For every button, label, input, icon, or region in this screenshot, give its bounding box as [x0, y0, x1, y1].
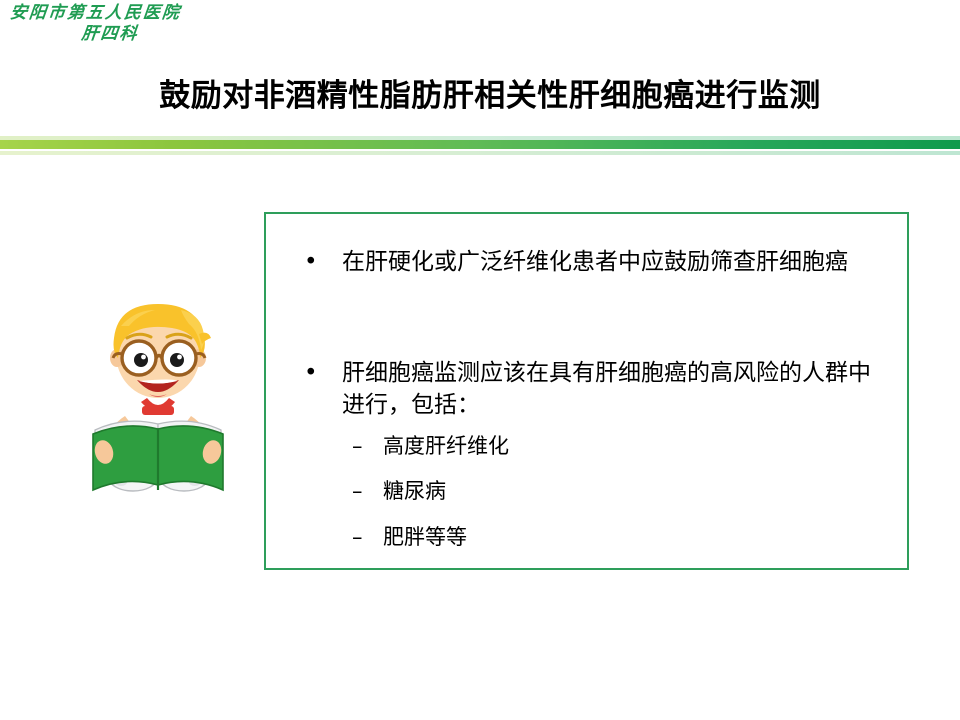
bullet-marker-icon: • [304, 357, 342, 390]
sub-bullet-item-1: – 高度肝纤维化 [352, 432, 893, 460]
dash-marker-icon: – [352, 432, 383, 460]
bullet-spacer [304, 279, 893, 357]
bullet-text-2: 肝细胞癌监测应该在具有肝细胞癌的高风险的人群中进行，包括： [342, 357, 893, 422]
sub-bullet-list: – 高度肝纤维化 – 糖尿病 – 肥胖等等 [352, 432, 893, 551]
header-divider [0, 136, 960, 158]
bullet-marker-icon: • [304, 246, 342, 279]
hospital-logo-line1: 安阳市第五人民医院 [7, 4, 209, 24]
bullet-text-1: 在肝硬化或广泛纤维化患者中应鼓励筛查肝细胞癌 [342, 246, 893, 279]
dash-marker-icon: – [352, 477, 383, 505]
sub-bullet-item-2: – 糖尿病 [352, 477, 893, 505]
boy-reading-book-illustration [85, 282, 231, 497]
bullet-item-1: • 在肝硬化或广泛纤维化患者中应鼓励筛查肝细胞癌 [304, 246, 893, 279]
sub-bullet-item-3: – 肥胖等等 [352, 523, 893, 551]
hospital-logo: 安阳市第五人民医院 肝四科 [8, 4, 208, 44]
slide-title: 鼓励对非酒精性脂肪肝相关性肝细胞癌进行监测 [60, 70, 920, 115]
content-box: • 在肝硬化或广泛纤维化患者中应鼓励筛查肝细胞癌 • 肝细胞癌监测应该在具有肝细… [264, 212, 909, 570]
divider-bar [0, 140, 960, 149]
bullet-list: • 在肝硬化或广泛纤维化患者中应鼓励筛查肝细胞癌 • 肝细胞癌监测应该在具有肝细… [304, 246, 893, 551]
sub-bullet-text-1: 高度肝纤维化 [383, 432, 893, 460]
dash-marker-icon: – [352, 523, 383, 551]
hospital-logo-line2: 肝四科 [7, 25, 209, 45]
sub-bullet-text-2: 糖尿病 [383, 477, 893, 505]
divider-echo-line [0, 151, 960, 155]
bullet-item-2: • 肝细胞癌监测应该在具有肝细胞癌的高风险的人群中进行，包括： [304, 357, 893, 422]
sub-bullet-text-3: 肥胖等等 [383, 523, 893, 551]
